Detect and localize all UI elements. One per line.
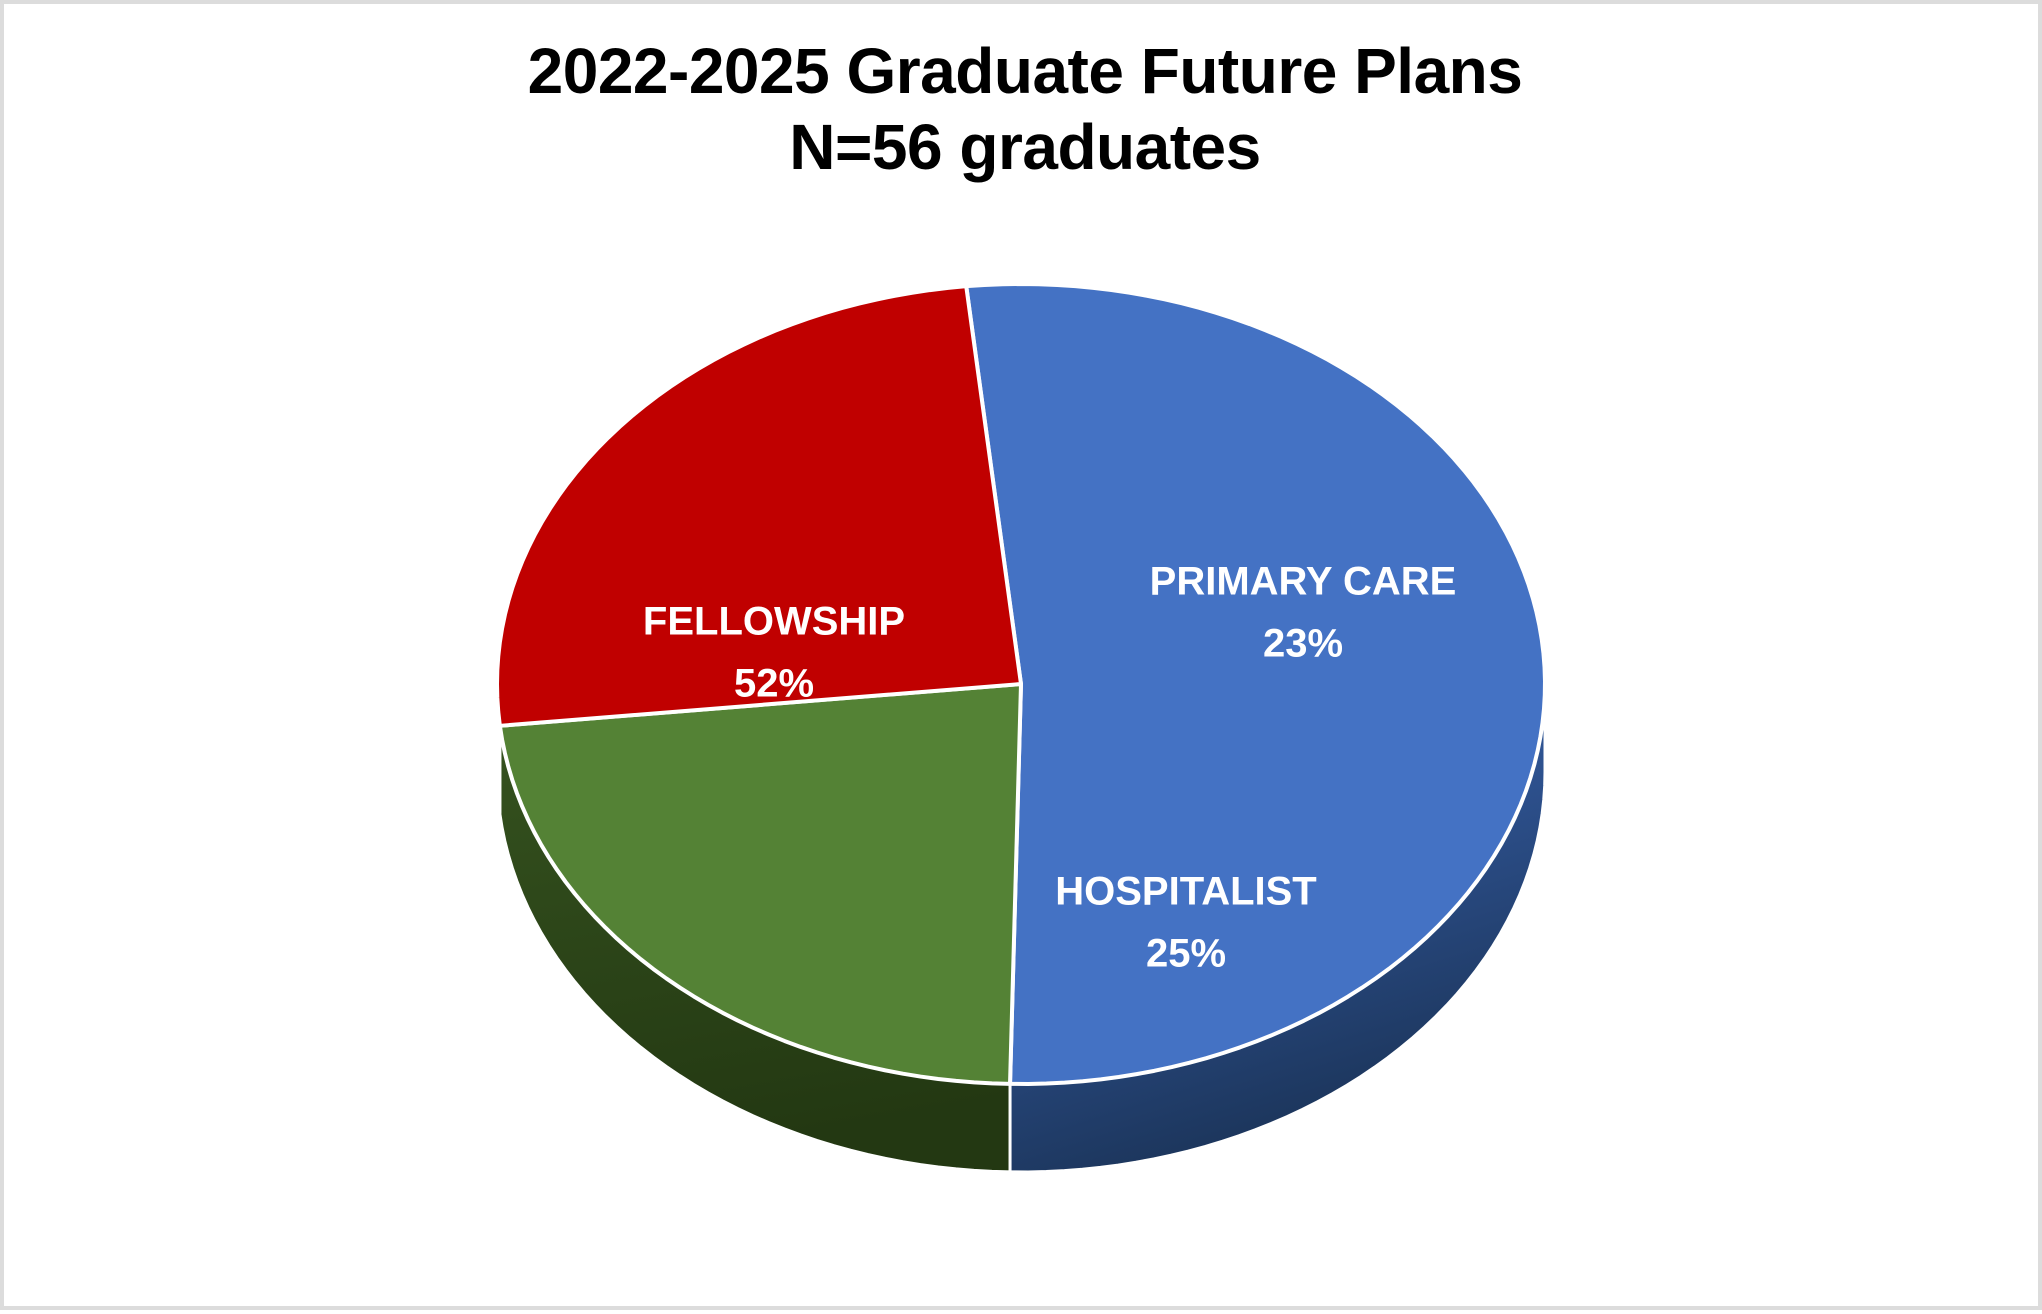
chart-canvas: 2022-2025 Graduate Future Plans N=56 gra… xyxy=(0,0,2042,1310)
pie-slice-hospitalist[interactable] xyxy=(497,286,1021,726)
pie-chart-area: FELLOWSHIP52%PRIMARY CARE23%HOSPITALIST2… xyxy=(4,4,2042,1314)
pie-label-value: 25% xyxy=(1146,932,1226,976)
pie-label-name: PRIMARY CARE xyxy=(1150,560,1457,604)
pie-slice-primary-care[interactable] xyxy=(500,684,1021,1084)
pie-label-name: HOSPITALIST xyxy=(1055,870,1316,914)
pie-chart-svg: FELLOWSHIP52%PRIMARY CARE23%HOSPITALIST2… xyxy=(4,4,2042,1314)
pie-top-faces xyxy=(497,284,1545,1084)
pie-label-name: FELLOWSHIP xyxy=(643,600,905,644)
pie-label-value: 52% xyxy=(734,662,814,706)
pie-label-value: 23% xyxy=(1263,622,1343,666)
